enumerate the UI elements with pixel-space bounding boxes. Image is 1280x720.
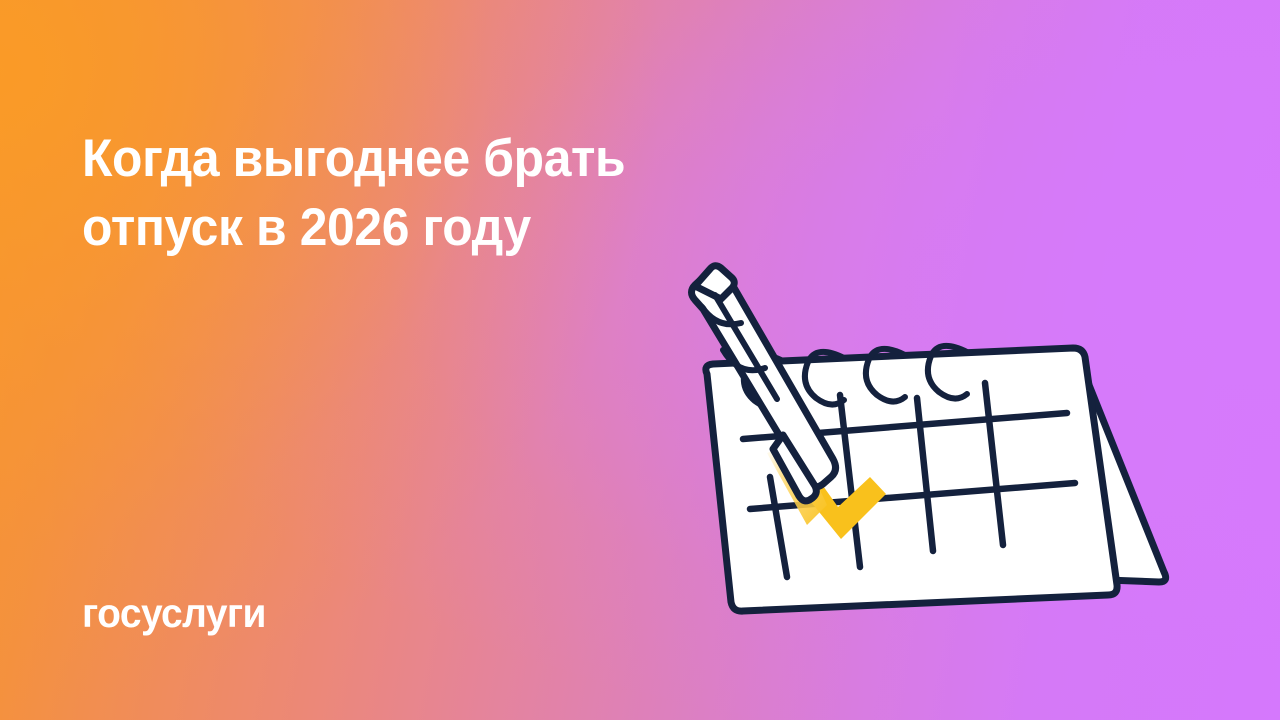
page-title: Когда выгоднее брать отпуск в 2026 году bbox=[82, 124, 702, 264]
calendar-illustration bbox=[655, 255, 1215, 655]
banner-root: Когда выгоднее брать отпуск в 2026 году … bbox=[0, 0, 1280, 720]
calendar-illustration-svg bbox=[655, 255, 1215, 655]
calendar-group bbox=[692, 266, 1167, 611]
gosuslugi-logo: госуслуги bbox=[82, 593, 266, 634]
